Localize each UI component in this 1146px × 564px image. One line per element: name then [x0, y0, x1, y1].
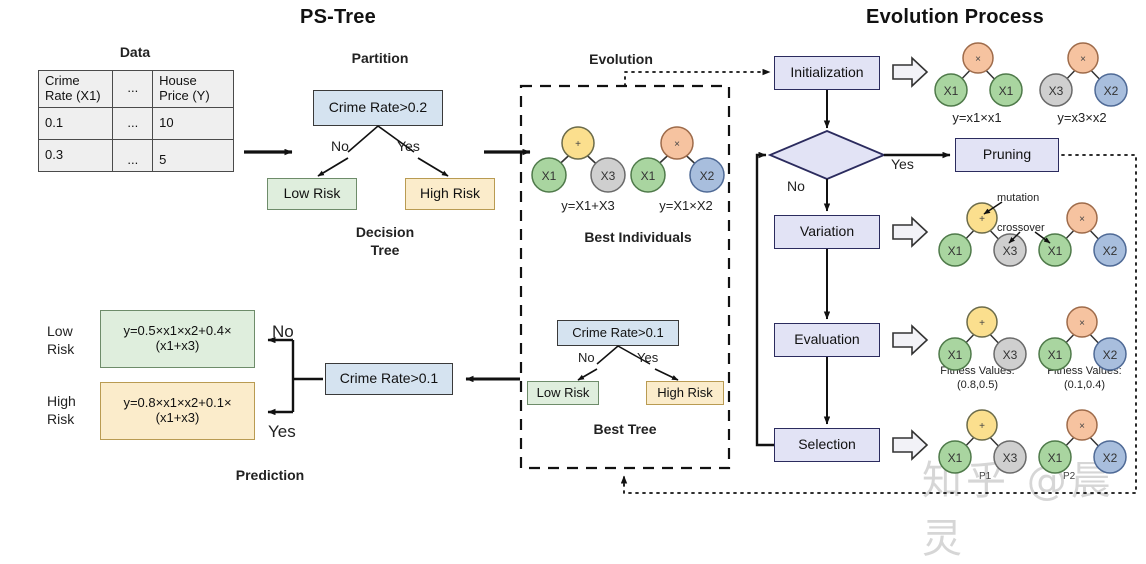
svg-text:X3: X3 [601, 169, 616, 183]
svg-text:×: × [1079, 421, 1085, 432]
best-individual-tree-1: + X1 X3 [532, 127, 625, 192]
svg-text:+: + [575, 139, 581, 150]
svg-text:X1: X1 [948, 244, 963, 258]
svg-text:X1: X1 [1048, 451, 1063, 465]
svg-text:×: × [674, 139, 680, 150]
svg-text:X3: X3 [1049, 84, 1064, 98]
svg-text:×: × [975, 54, 981, 65]
svg-text:×: × [1079, 214, 1085, 225]
selection-tree-2: × X1 X2 [1039, 410, 1126, 473]
svg-text:X2: X2 [1103, 451, 1118, 465]
svg-text:X1: X1 [641, 169, 656, 183]
svg-text:X1: X1 [1048, 348, 1063, 362]
svg-text:X3: X3 [1003, 451, 1018, 465]
variation-tree-2: × X1 X2 [1039, 203, 1126, 266]
svg-text:X1: X1 [999, 84, 1014, 98]
svg-text:X1: X1 [948, 348, 963, 362]
block-arrow-evaluation [893, 326, 927, 354]
evaluation-tree-2: × X1 X2 [1039, 307, 1126, 370]
block-arrow-selection [893, 431, 927, 459]
svg-text:X2: X2 [700, 169, 715, 183]
block-arrow-initialization [893, 58, 927, 86]
svg-text:X2: X2 [1104, 84, 1119, 98]
svg-text:X2: X2 [1103, 348, 1118, 362]
flow-node-stop-diamond [770, 131, 884, 179]
svg-text:X3: X3 [1003, 348, 1018, 362]
svg-text:X1: X1 [944, 84, 959, 98]
svg-text:×: × [1080, 54, 1086, 65]
feedback-path-evolution-to-initialization [625, 72, 770, 86]
variation-tree-1: + X1 X3 [939, 203, 1026, 266]
evaluation-tree-1: + X1 X3 [939, 307, 1026, 370]
svg-text:X1: X1 [542, 169, 557, 183]
svg-text:×: × [1079, 318, 1085, 329]
svg-text:+: + [979, 214, 985, 225]
init-tree-1: × X1 X1 [935, 43, 1022, 106]
block-arrow-variation [893, 218, 927, 246]
svg-text:X1: X1 [1048, 244, 1063, 258]
init-tree-2: × X3 X2 [1040, 43, 1127, 106]
svg-text:+: + [979, 421, 985, 432]
svg-text:X1: X1 [948, 451, 963, 465]
selection-tree-1: + X1 X3 [939, 410, 1026, 473]
best-individual-tree-2: × X1 X2 [631, 127, 724, 192]
diagram-vector-layer: + X1 X3 × X1 X2 [0, 0, 1146, 514]
svg-text:X3: X3 [1003, 244, 1018, 258]
svg-text:X2: X2 [1103, 244, 1118, 258]
svg-text:+: + [979, 318, 985, 329]
